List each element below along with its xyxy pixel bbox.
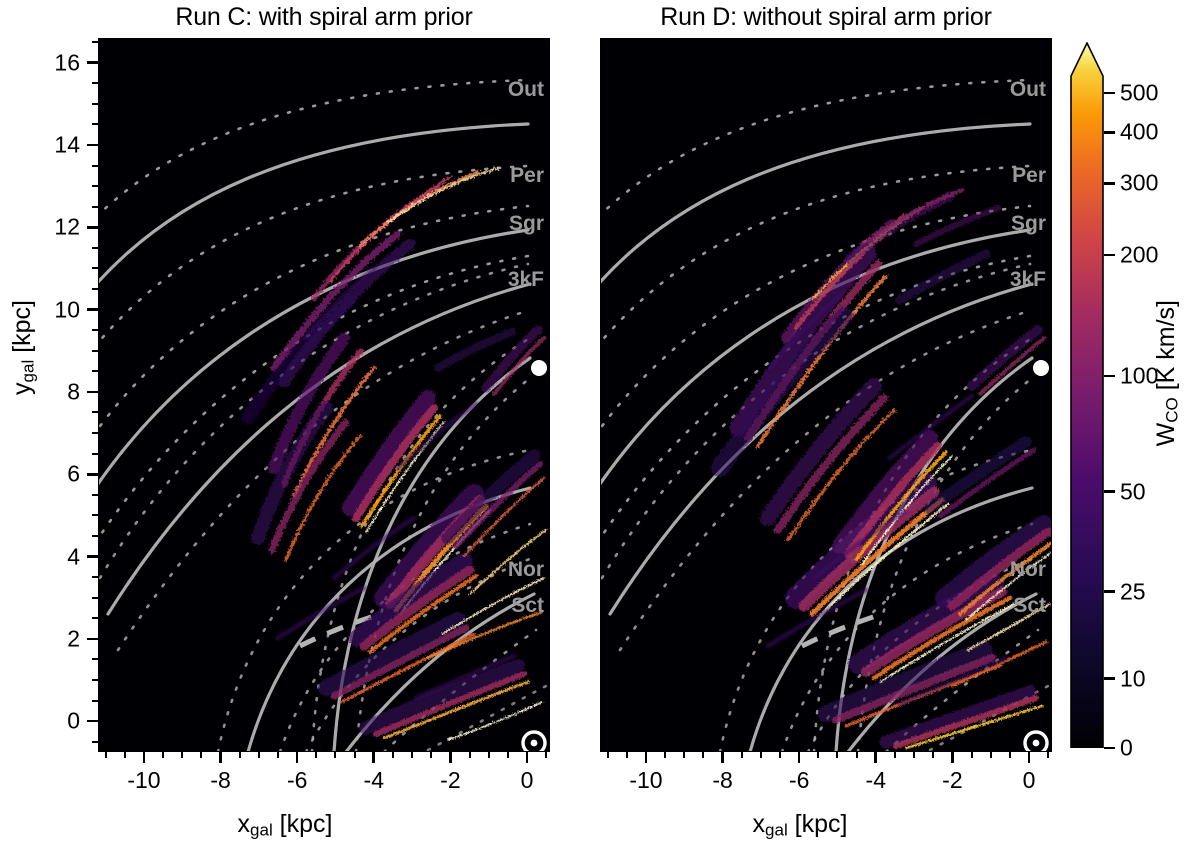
y-tick-label: 6 (67, 461, 80, 488)
x-minor-tick (430, 752, 432, 758)
y-minor-tick (92, 658, 98, 660)
y-axis-label-sub: gal (19, 360, 38, 383)
x-minor-tick (411, 752, 413, 758)
x-minor-tick (664, 752, 666, 758)
colorbar (1070, 42, 1104, 748)
x-minor-tick (315, 752, 317, 758)
colorbar-tick-label: 200 (1120, 242, 1158, 269)
y-minor-tick (92, 165, 98, 167)
x-minor-tick (258, 752, 260, 758)
x-minor-tick (469, 752, 471, 758)
x-tick-label: -2 (942, 767, 962, 794)
y-major-tick (87, 555, 98, 558)
x-axis-label-sub: gal (250, 821, 273, 840)
colorbar-tick-label: 500 (1120, 79, 1158, 106)
colorbar-tick (1104, 677, 1115, 680)
colorbar-gradient (1070, 42, 1104, 748)
colorbar-tick-label: 400 (1120, 119, 1158, 146)
colorbar-title-unit: [K km/s] (1152, 300, 1180, 390)
y-tick-label: 10 (54, 296, 80, 323)
y-minor-tick (92, 597, 98, 599)
y-minor-tick (92, 411, 98, 413)
x-minor-tick (990, 752, 992, 758)
x-minor-tick (741, 752, 743, 758)
y-minor-tick (92, 123, 98, 125)
x-minor-tick (277, 752, 279, 758)
y-minor-tick (92, 576, 98, 578)
x-minor-tick (334, 752, 336, 758)
y-major-tick (87, 391, 98, 394)
y-minor-tick (92, 288, 98, 290)
y-minor-tick (92, 350, 98, 352)
y-minor-tick (92, 103, 98, 105)
x-axis-label-left: xgal [kpc] (238, 810, 333, 841)
arm-label-out: Out (508, 78, 544, 101)
y-tick-label: 12 (54, 214, 80, 241)
x-axis-label-unit: [kpc] (795, 810, 848, 838)
y-major-tick (87, 720, 98, 723)
galactic-center-marker (1033, 360, 1049, 376)
y-minor-tick (92, 535, 98, 537)
panel-title-left: Run C: with spiral arm prior (98, 3, 550, 32)
x-minor-tick (779, 752, 781, 758)
y-minor-tick (92, 679, 98, 681)
panel-left-canvas: Out Per Sgr 3kF Nor Sct (98, 38, 550, 752)
colorbar-tick-label: 300 (1120, 170, 1158, 197)
y-minor-tick (92, 247, 98, 249)
x-tick-label: -4 (866, 767, 886, 794)
y-tick-label: 0 (67, 708, 80, 735)
y-tick-label: 8 (67, 378, 80, 405)
x-major-tick (526, 752, 529, 763)
colorbar-tick (1104, 490, 1115, 493)
colorbar-title-main: W (1152, 423, 1180, 447)
colorbar-tick (1104, 747, 1115, 750)
y-tick-label: 4 (67, 543, 80, 570)
x-tick-label: -10 (127, 767, 160, 794)
x-minor-tick (392, 752, 394, 758)
x-minor-tick (817, 752, 819, 758)
x-tick-label: 0 (1023, 767, 1036, 794)
x-major-tick (143, 752, 146, 763)
y-axis-label-main: y (8, 382, 36, 395)
x-major-tick (874, 752, 877, 763)
galactic-center-marker (531, 360, 547, 376)
x-minor-tick (181, 752, 183, 758)
x-minor-tick (200, 752, 202, 758)
colorbar-tick (1104, 254, 1115, 257)
x-minor-tick (488, 752, 490, 758)
x-minor-tick (124, 752, 126, 758)
x-major-tick (296, 752, 299, 763)
arm-label-nor: Nor (508, 558, 544, 581)
y-major-tick (87, 638, 98, 641)
x-minor-tick (507, 752, 509, 758)
y-minor-tick (92, 514, 98, 516)
arm-label-sct: Sct (511, 594, 544, 617)
x-minor-tick (894, 752, 896, 758)
x-minor-tick (856, 752, 858, 758)
x-minor-tick (913, 752, 915, 758)
figure-root: Run C: with spiral arm prior Run D: with… (0, 0, 1200, 852)
y-minor-tick (92, 206, 98, 208)
x-axis-label-unit: [kpc] (280, 810, 333, 838)
colorbar-tick (1104, 375, 1115, 378)
x-minor-tick (607, 752, 609, 758)
colorbar-tick (1104, 92, 1115, 95)
y-minor-tick (92, 185, 98, 187)
colorbar-tick (1104, 590, 1115, 593)
y-axis-label: ygal [kpc] (8, 300, 39, 395)
y-tick-label: 16 (54, 49, 80, 76)
y-minor-tick (92, 453, 98, 455)
y-minor-tick (92, 41, 98, 43)
x-minor-tick (239, 752, 241, 758)
y-minor-tick (92, 741, 98, 743)
x-minor-tick (1009, 752, 1011, 758)
x-minor-tick (354, 752, 356, 758)
y-minor-tick (92, 432, 98, 434)
x-tick-label: -6 (287, 767, 307, 794)
y-minor-tick (92, 617, 98, 619)
x-major-tick (645, 752, 648, 763)
arm-label-sgr: Sgr (509, 212, 544, 235)
colorbar-title-sub: CO (1163, 397, 1182, 423)
x-minor-tick (683, 752, 685, 758)
x-tick-label: -8 (210, 767, 230, 794)
y-tick-label: 14 (54, 131, 80, 158)
x-tick-label: -6 (789, 767, 809, 794)
x-axis-label-main: x (753, 810, 766, 838)
x-tick-label: -10 (629, 767, 662, 794)
y-minor-tick (92, 494, 98, 496)
x-tick-label: -2 (440, 767, 460, 794)
plot-panel-run-c: Out Per Sgr 3kF Nor Sct (98, 38, 550, 752)
x-minor-tick (545, 752, 547, 758)
plot-panel-run-d: Out Per Sgr 3kF Nor Sct (600, 38, 1052, 752)
x-major-tick (449, 752, 452, 763)
x-minor-tick (971, 752, 973, 758)
x-major-tick (798, 752, 801, 763)
x-minor-tick (702, 752, 704, 758)
arm-label-3kf: 3kF (508, 268, 544, 291)
y-major-tick (87, 144, 98, 147)
y-minor-tick (92, 700, 98, 702)
y-major-tick (87, 308, 98, 311)
colorbar-tick (1104, 131, 1115, 134)
arm-label-per: Per (510, 164, 544, 187)
x-tick-label: -4 (364, 767, 384, 794)
x-tick-label: -8 (712, 767, 732, 794)
x-major-tick (372, 752, 375, 763)
x-major-tick (219, 752, 222, 763)
arm-label-out: Out (1010, 78, 1046, 101)
colorbar-tick-label: 50 (1120, 478, 1146, 505)
x-minor-tick (1047, 752, 1049, 758)
x-major-tick (1028, 752, 1031, 763)
arm-label-per: Per (1012, 164, 1046, 187)
x-tick-label: 0 (521, 767, 534, 794)
x-minor-tick (932, 752, 934, 758)
x-major-tick (721, 752, 724, 763)
x-axis-label-right: xgal [kpc] (753, 810, 848, 841)
y-major-tick (87, 61, 98, 64)
x-axis-label-sub: gal (765, 821, 788, 840)
y-major-tick (87, 226, 98, 229)
arm-label-nor: Nor (1010, 558, 1046, 581)
y-axis-label-unit: [kpc] (8, 300, 36, 353)
x-minor-tick (105, 752, 107, 758)
panel-title-right: Run D: without spiral arm prior (600, 3, 1052, 32)
x-minor-tick (836, 752, 838, 758)
y-minor-tick (92, 329, 98, 331)
x-minor-tick (760, 752, 762, 758)
y-minor-tick (92, 370, 98, 372)
x-minor-tick (626, 752, 628, 758)
x-axis-label-main: x (238, 810, 251, 838)
arm-label-sct: Sct (1013, 594, 1046, 617)
y-minor-tick (92, 82, 98, 84)
colorbar-tick-label: 0 (1120, 735, 1133, 762)
x-major-tick (951, 752, 954, 763)
y-tick-label: 2 (67, 625, 80, 652)
y-minor-tick (92, 267, 98, 269)
panel-right-canvas: Out Per Sgr 3kF Nor Sct (600, 38, 1052, 752)
colorbar-title: WCO [K km/s] (1152, 300, 1183, 446)
y-major-tick (87, 473, 98, 476)
colorbar-tick-label: 25 (1120, 578, 1146, 605)
arm-label-sgr: Sgr (1011, 212, 1046, 235)
arm-label-3kf: 3kF (1010, 268, 1046, 291)
x-minor-tick (162, 752, 164, 758)
colorbar-tick-label: 10 (1120, 665, 1146, 692)
colorbar-tick (1104, 182, 1115, 185)
